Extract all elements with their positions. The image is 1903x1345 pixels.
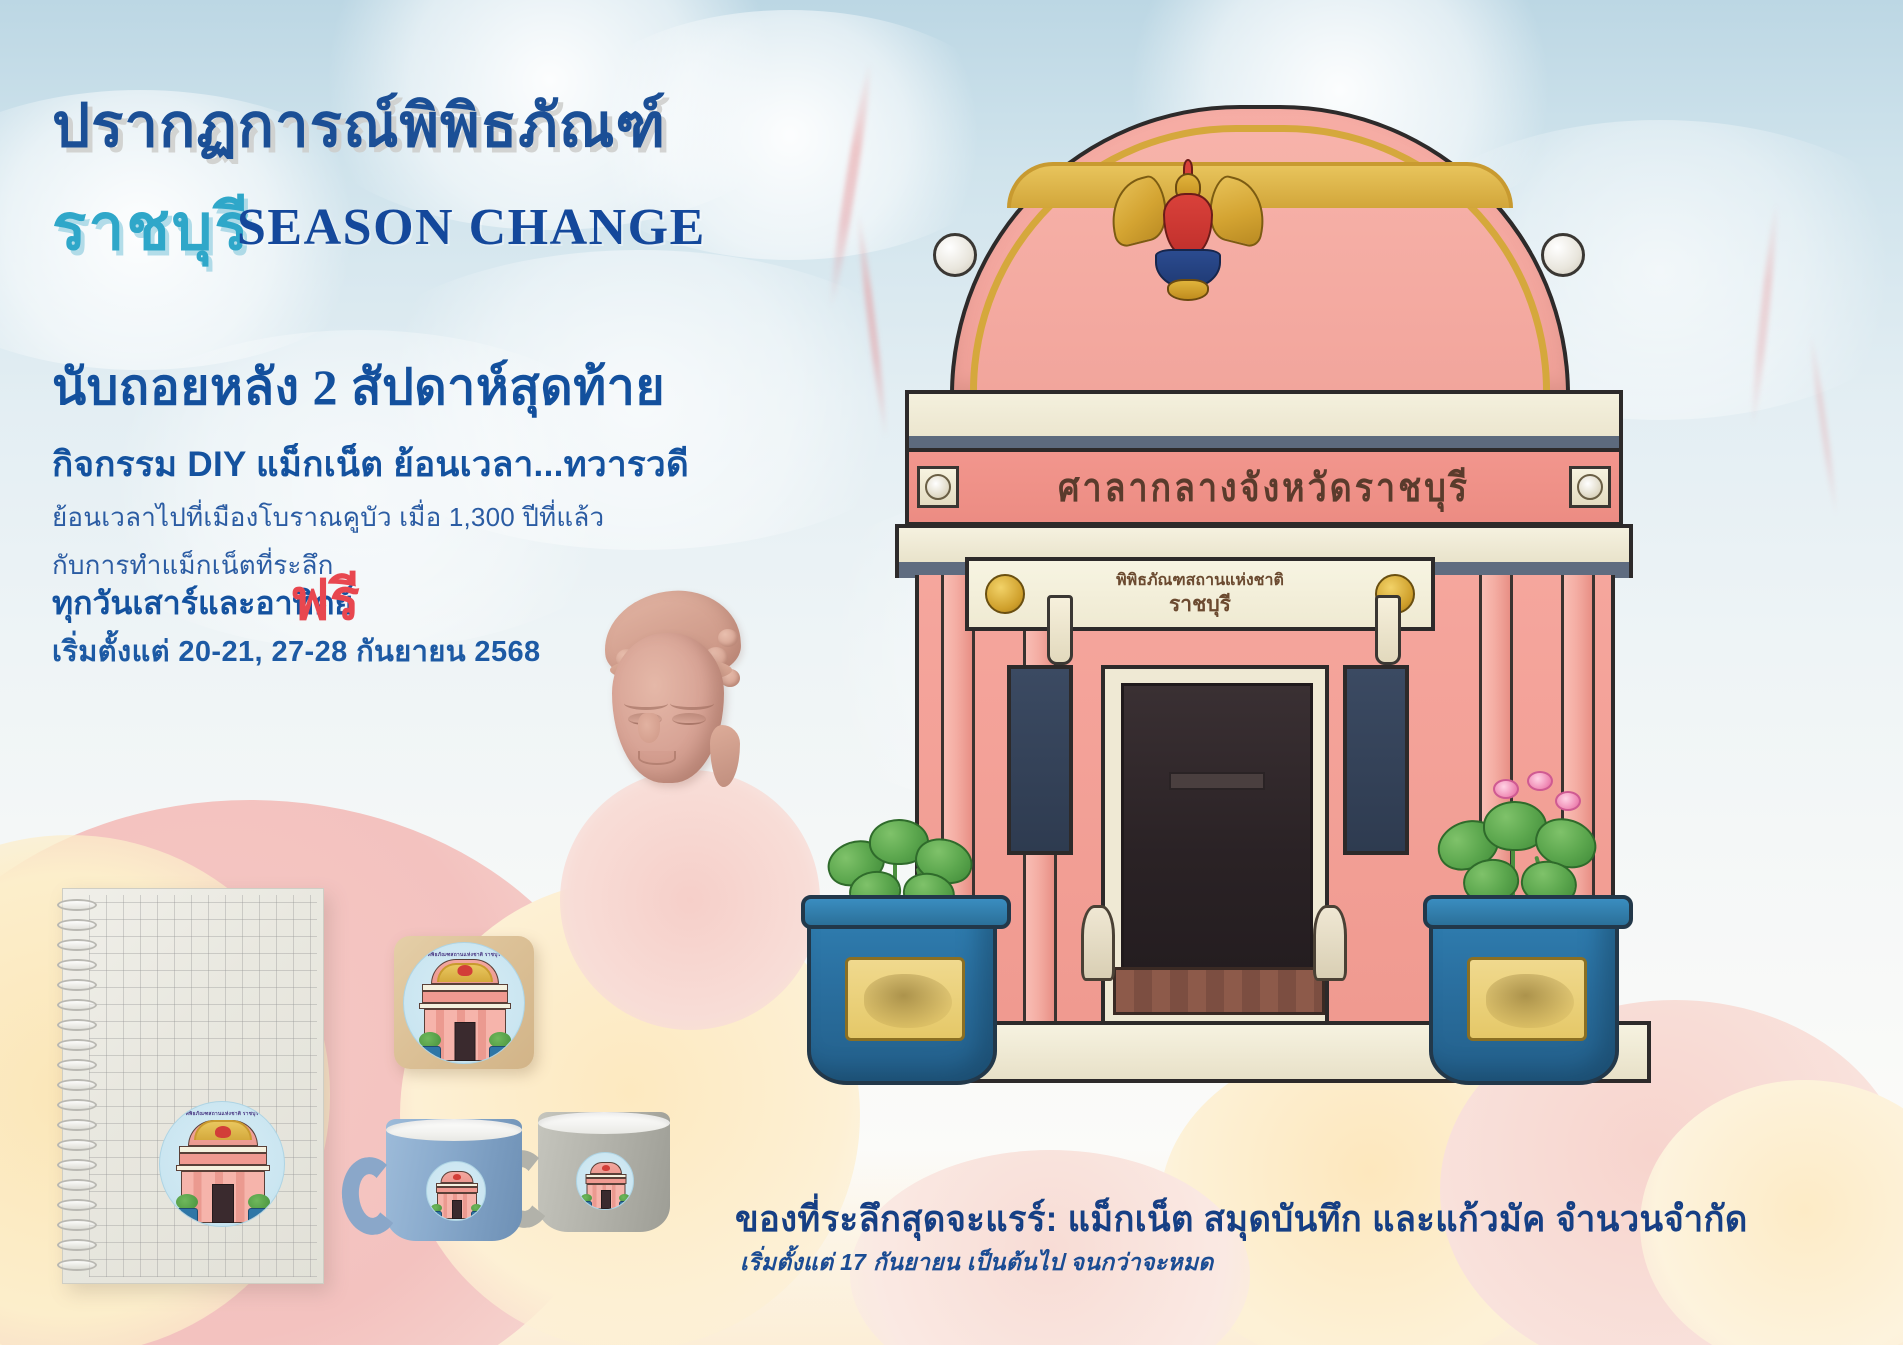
spiral-ring [57, 1039, 97, 1051]
magnet-signboard [422, 991, 508, 1003]
ceramic-pot-left [807, 905, 997, 1085]
souvenir-notebook: พิพิธภัณฑสถานแห่งชาติ ราชบุรี [62, 888, 324, 1284]
spiral-ring [57, 1079, 97, 1091]
planter-left [807, 805, 1017, 1085]
museum-nameplate: พิพิธภัณฑสถานแห่งชาติ ราชบุรี [965, 557, 1435, 631]
garuda-body [1163, 193, 1213, 255]
medallion-left [917, 466, 959, 508]
magnet-pot-left [419, 1046, 441, 1064]
door-panel [1169, 772, 1265, 790]
spiral-ring [57, 1019, 97, 1031]
magnet-sticker: พิพิธภัณฑสถานแห่งชาติ ราชบุรี [403, 942, 525, 1064]
sticker-caption-magnet: พิพิธภัณฑสถานแห่งชาติ ราชบุรี [428, 951, 501, 959]
mug-grey-door [601, 1190, 611, 1209]
pot-rim-right [1423, 895, 1633, 929]
garuda-tail [1167, 279, 1209, 301]
upper-cornice [905, 390, 1623, 440]
spiral-ring [57, 979, 97, 991]
mug-grey-pot-left [581, 1201, 592, 1210]
mug-blue-pot-right [471, 1211, 482, 1221]
guardian-statue-left [1081, 905, 1115, 981]
pot-motif-right [1486, 974, 1574, 1028]
activity-description-line-1: ย้อนเวลาไปที่เมืองโบราณคูบัว เมื่อ 1,300… [52, 497, 604, 538]
souvenir-caption: ของที่ระลึกสุดจะแรร์: แม็กเน็ต สมุดบันทึ… [735, 1190, 1748, 1247]
mug-blue-logo [426, 1161, 486, 1221]
countdown-heading: นับถอยหลัง 2 สัปดาห์สุดท้าย [52, 348, 665, 427]
main-sign-text: ศาลากลางจังหวัดราชบุรี [1058, 456, 1470, 518]
sticker-signboard [179, 1153, 267, 1165]
souvenir-caption-sub: เริ่มตั้งแต่ 17 กันยายน เป็นต้นไป จนกว่า… [740, 1245, 1214, 1281]
spiral-ring [57, 959, 97, 971]
finial-left [933, 233, 977, 277]
main-signboard: ศาลากลางจังหวัดราชบุรี [905, 448, 1623, 526]
magnet-pot-right [489, 1046, 511, 1064]
finial-right [1541, 233, 1585, 277]
mug-grey-logo [576, 1152, 634, 1210]
sculpture-brow-left [624, 697, 668, 710]
sculpture-ear [710, 725, 740, 787]
subtitle-thai: ราชบุรี [52, 176, 251, 278]
spiral-ring [57, 919, 97, 931]
spiral-ring [57, 1239, 97, 1251]
spiral-ring [57, 1159, 97, 1171]
medallion-right-inner [1577, 474, 1603, 500]
window-right [1343, 665, 1409, 855]
spiral-ring [57, 1059, 97, 1071]
dvaravati-head-sculpture [598, 585, 758, 795]
magnet-garuda-icon [458, 965, 473, 976]
sculpture-eye-right [672, 713, 706, 725]
museum-seal-icon [985, 574, 1025, 614]
museum-name-line2: ราชบุรี [1041, 591, 1359, 617]
event-dates: เริ่มตั้งแต่ 20-21, 27-28 กันยายน 2568 [52, 628, 541, 674]
notebook-spiral-binding [57, 897, 101, 1275]
poster-headline: ปรากฏการณ์พิพิธภัณฑ์ [52, 78, 666, 173]
pot-rim-left [801, 895, 1011, 929]
sticker-pot-right [248, 1208, 270, 1227]
wall-lamp-right [1375, 595, 1401, 665]
poster-canvas: ศาลากลางจังหวัดราชบุรี พิพิธภัณฑสถานแห่ง… [0, 0, 1903, 1345]
pot-panel-right [1467, 957, 1587, 1041]
mug-blue-pot-left [431, 1211, 442, 1221]
mug-rim-grey [538, 1112, 670, 1134]
wooden-threshold [1113, 967, 1325, 1015]
subtitle-english: SEASON CHANGE [237, 198, 706, 257]
main-entrance-frame [1101, 665, 1329, 1025]
spiral-ring [57, 1099, 97, 1111]
sticker-cornice [179, 1146, 267, 1153]
spiral-ring [57, 1259, 97, 1271]
mug-rim-blue [386, 1119, 522, 1141]
spiral-ring [57, 1219, 97, 1231]
pot-panel-left [845, 957, 965, 1041]
sticker-pot-left [176, 1208, 198, 1227]
mug-grey-pot-right [619, 1201, 630, 1210]
mug-blue-door [452, 1200, 462, 1219]
notebook-sticker: พิพิธภัณฑสถานแห่งชาติ ราชบุรี [159, 1101, 285, 1227]
sculpture-brow-right [670, 697, 714, 710]
spiral-ring [57, 1139, 97, 1151]
spiral-ring [57, 999, 97, 1011]
planter-right [1415, 765, 1645, 1085]
sticker-door [212, 1184, 234, 1223]
magnet-building-art [404, 959, 525, 1064]
crown-curl-6 [718, 629, 738, 647]
magnet-door [455, 1022, 476, 1061]
spiral-ring [57, 1119, 97, 1131]
mug-blue-building-art [427, 1171, 486, 1221]
souvenir-magnet: พิพิธภัณฑสถานแห่งชาติ ราชบุรี [394, 936, 534, 1069]
museum-nameplate-text: พิพิธภัณฑสถานแห่งชาติ ราชบุรี [1041, 571, 1359, 617]
souvenir-mug-grey [538, 1112, 670, 1232]
medallion-left-inner [925, 474, 951, 500]
sculpture-mouth [638, 751, 676, 765]
spiral-ring [57, 1179, 97, 1191]
mug-grey-building-art [577, 1162, 634, 1210]
museum-name-line1: พิพิธภัณฑสถานแห่งชาติ [1116, 572, 1284, 589]
plant-flower-r2 [1527, 771, 1553, 791]
sticker-caption-notebook: พิพิธภัณฑสถานแห่งชาติ ราชบุรี [186, 1110, 259, 1118]
activity-heading: กิจกรรม DIY แม็กเน็ต ย้อนเวลา...ทวารวดี [52, 437, 689, 492]
mug-blue-garuda-icon [453, 1174, 461, 1180]
plant-flower-r3 [1555, 791, 1581, 811]
guardian-statue-right [1313, 905, 1347, 981]
pot-motif-left [864, 974, 952, 1028]
garuda-emblem-icon [1113, 167, 1263, 302]
ceramic-pot-right [1429, 905, 1619, 1085]
souvenir-mug-blue [386, 1119, 522, 1241]
provincial-hall-illustration: ศาลากลางจังหวัดราชบุรี พิพิธภัณฑสถานแห่ง… [855, 105, 1855, 1165]
spiral-ring [57, 1199, 97, 1211]
spiral-ring [57, 899, 97, 911]
medallion-right [1569, 466, 1611, 508]
magnet-cornice [422, 984, 508, 991]
plant-flower-r1 [1493, 779, 1519, 799]
sculpture-nose [638, 713, 660, 743]
sticker-garuda-icon [215, 1126, 231, 1138]
wall-lamp-left [1047, 595, 1073, 665]
mug-grey-garuda-icon [602, 1165, 610, 1171]
spiral-ring [57, 939, 97, 951]
sticker-building-art [160, 1120, 285, 1227]
blob-peach-small [560, 770, 820, 1030]
main-doorway [1121, 683, 1313, 973]
